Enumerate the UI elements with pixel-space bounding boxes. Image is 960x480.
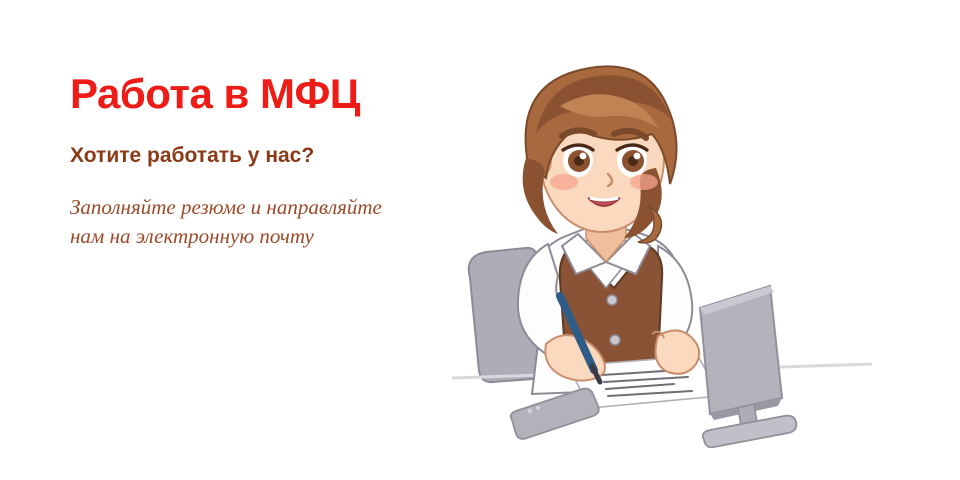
right-hand [656, 330, 700, 373]
body-text-line-1: Заполняйте резюме и направляйте [70, 195, 382, 219]
page-title: Работа в МФЦ [70, 72, 490, 116]
blush-left [550, 174, 578, 190]
mosaic-decoration-bottom-left [0, 220, 300, 480]
subheading: Хотите работать у нас? [70, 144, 490, 167]
job-vacancy-banner: Работа в МФЦ Хотите работать у нас? Запо… [0, 0, 960, 480]
illustration-woman-at-desk [452, 48, 872, 448]
eye-right [617, 143, 647, 177]
phone-camera [528, 409, 533, 414]
body-text-line-2: нам на электронную почту [70, 224, 314, 248]
vest-button-upper [607, 295, 617, 305]
text-content-block: Работа в МФЦ Хотите работать у нас? Запо… [70, 72, 490, 250]
smartphone [511, 389, 599, 439]
phone-sensor [536, 406, 540, 410]
blush-right [630, 174, 658, 190]
vest-button-lower [610, 335, 620, 345]
eye-left [563, 143, 593, 177]
body-text: Заполняйте резюме и направляйте нам на э… [70, 193, 490, 250]
